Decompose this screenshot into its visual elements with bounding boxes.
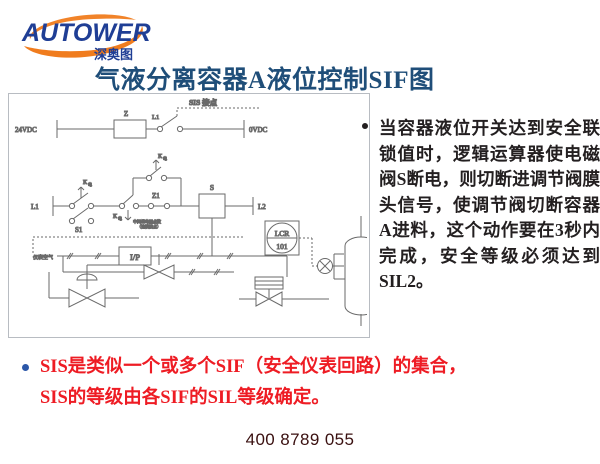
- summary-bullet: [22, 364, 29, 371]
- label-controller-number: 101: [276, 242, 288, 251]
- label-relay-coil-z: Z: [124, 110, 128, 118]
- label-bus-l1: L1: [31, 203, 39, 211]
- label-instrument-air: 仪表空气: [33, 254, 53, 261]
- label-sis-contact: SIS 接点: [189, 97, 218, 107]
- solenoid-valve-s-box: [199, 194, 225, 218]
- label-k-sub-3: 电: [163, 155, 167, 161]
- summary-line-2: SIS的等级由各SIF的SIL等级确定。: [40, 383, 592, 414]
- label-switch-s1: S1: [75, 226, 83, 234]
- logo-wordmark: AUTOWER: [21, 19, 151, 47]
- label-k-sub-2: 电: [118, 215, 122, 221]
- relay-coil-z-box: [114, 120, 146, 138]
- label-relay-z1: Z1: [152, 192, 160, 200]
- page-title: 气液分离容器A液位控制SIF图: [95, 60, 555, 96]
- company-logo: AUTOWER 深奥图: [16, 10, 156, 64]
- description-block: 当容器液位开关达到安全联锁值时，逻辑运算器使电磁阀S断电，则切断进调节阀膜头信号…: [357, 116, 600, 295]
- label-k-sub-1: 电: [88, 181, 92, 187]
- label-contact-l1: L1: [152, 114, 159, 121]
- filter-regulator-box: [255, 277, 283, 289]
- label-0vdc: 0VDC: [249, 126, 268, 134]
- summary-text: SIS是类似一个或多个SIF（安全仪表回路）的集合， SIS的等级由各SIF的S…: [40, 352, 592, 414]
- label-solenoid-s: S: [210, 183, 214, 192]
- label-ip-converter: I/P: [130, 252, 140, 262]
- label-relay-note-2: （连锁触点）: [137, 223, 161, 229]
- description-text: 当容器液位开关达到安全联锁值时，逻辑运算器使电磁阀S断电，则切断进调节阀膜头信号…: [379, 116, 600, 295]
- label-24vdc: 24VDC: [15, 126, 37, 134]
- label-controller-tag: LCR: [275, 229, 290, 238]
- summary-line-1: SIS是类似一个或多个SIF（安全仪表回路）的集合，: [40, 352, 592, 383]
- sif-loop-diagram: 24VDC Z L1 SIS 接点 0VDC L1 K 电 S1 K 电: [8, 93, 370, 338]
- label-bus-l2: L2: [258, 203, 266, 211]
- summary-block: SIS是类似一个或多个SIF（安全仪表回路）的集合， SIS的等级由各SIF的S…: [8, 352, 592, 414]
- footer-phone: 400 8789 055: [0, 430, 600, 450]
- description-bullet: [362, 123, 368, 129]
